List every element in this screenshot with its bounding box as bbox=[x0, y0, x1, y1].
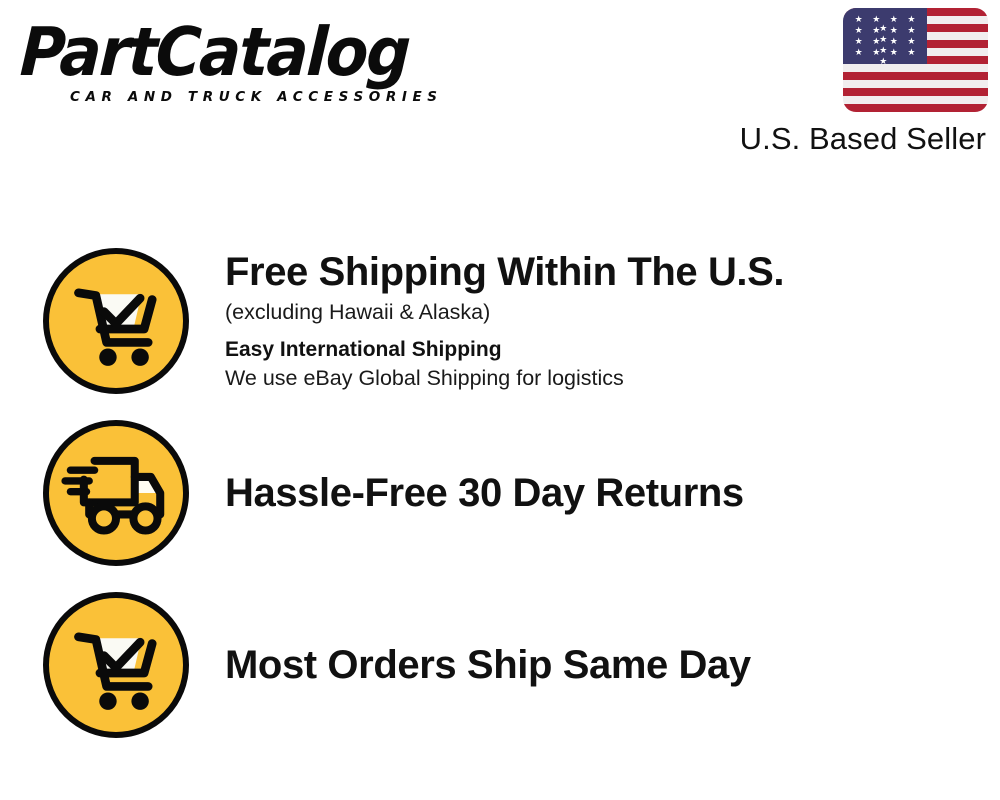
feature-text-block: Most Orders Ship Same Day bbox=[225, 642, 1000, 688]
flag-stripe bbox=[843, 72, 988, 80]
flag-canton: ★ ★ ★ ★ ★ ★ ★ ★ ★ ★ ★ ★ ★ ★ ★ ★ ★ ★ ★ ★ bbox=[843, 8, 927, 64]
flag-stripe bbox=[843, 104, 988, 112]
brand-logo[interactable]: PartCatalog CAR AND TRUCK ACCESSORIES bbox=[22, 18, 492, 118]
feature-row: Most Orders Ship Same Day bbox=[0, 592, 1000, 738]
shopping-cart-check-icon bbox=[43, 592, 189, 738]
feature-subtitle: (excluding Hawaii & Alaska) bbox=[225, 297, 990, 327]
flag-stripe bbox=[843, 88, 988, 96]
delivery-truck-icon bbox=[43, 420, 189, 566]
feature-text-block: Hassle-Free 30 Day Returns bbox=[225, 470, 1000, 516]
feature-sub-body: We use eBay Global Shipping for logistic… bbox=[225, 364, 990, 393]
feature-row: Free Shipping Within The U.S. (excluding… bbox=[0, 248, 1000, 394]
feature-row: Hassle-Free 30 Day Returns bbox=[0, 420, 1000, 566]
brand-wordmark: PartCatalog bbox=[19, 18, 492, 87]
us-based-seller-label: U.S. Based Seller bbox=[718, 121, 986, 157]
feature-text-block: Free Shipping Within The U.S. (excluding… bbox=[225, 249, 1000, 393]
us-flag-icon: ★ ★ ★ ★ ★ ★ ★ ★ ★ ★ ★ ★ ★ ★ ★ ★ ★ ★ ★ ★ bbox=[843, 8, 988, 112]
feature-title: Most Orders Ship Same Day bbox=[225, 642, 990, 688]
feature-title: Free Shipping Within The U.S. bbox=[225, 249, 990, 295]
feature-sub-heading: Easy International Shipping bbox=[225, 336, 990, 364]
us-based-seller-badge: ★ ★ ★ ★ ★ ★ ★ ★ ★ ★ ★ ★ ★ ★ ★ ★ ★ ★ ★ ★ … bbox=[718, 8, 988, 157]
flag-star-row: ★ ★ ★ ★ ★ bbox=[843, 48, 927, 66]
shopping-cart-check-icon bbox=[43, 248, 189, 394]
feature-title: Hassle-Free 30 Day Returns bbox=[225, 470, 990, 516]
